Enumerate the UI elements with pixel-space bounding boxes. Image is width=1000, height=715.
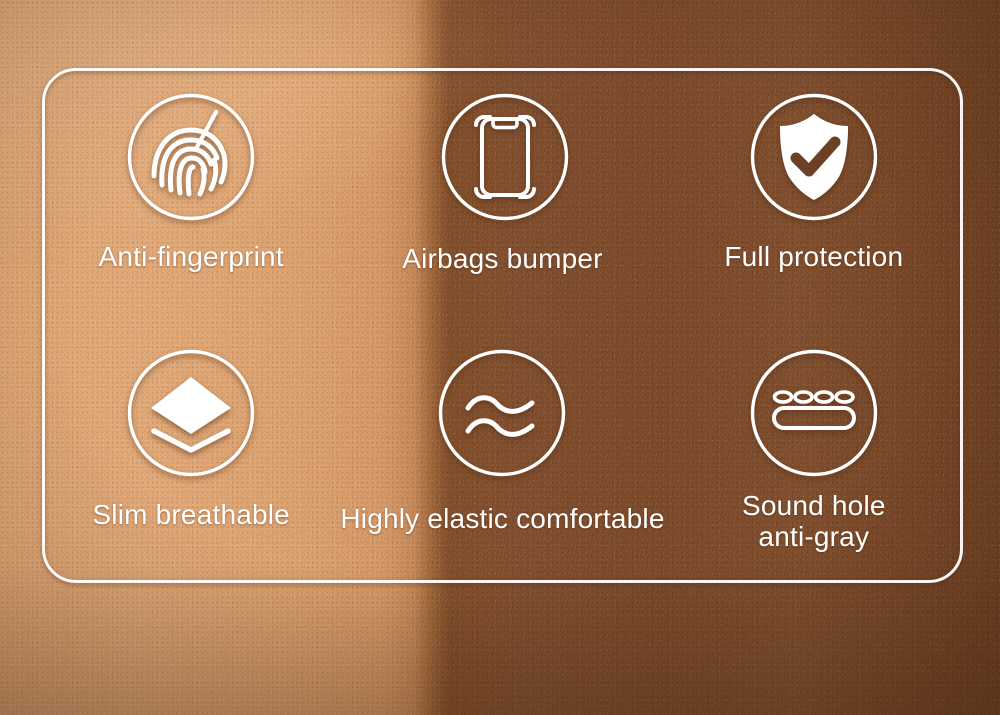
- feature-item-sound-hole-anti-gray: Sound hole anti-gray: [665, 326, 963, 584]
- feature-item-anti-fingerprint: Anti-fingerprint: [42, 68, 340, 326]
- feature-item-full-protection: Full protection: [665, 68, 963, 326]
- feature-label: Slim breathable: [92, 498, 290, 531]
- wavy-lines-icon: [435, 346, 569, 480]
- shield-check-icon: [747, 90, 881, 224]
- feature-item-highly-elastic-comfortable: Highly elastic comfortable: [340, 326, 664, 584]
- feature-label: Anti-fingerprint: [99, 240, 284, 273]
- feature-item-airbags-bumper: Airbags bumper: [340, 68, 664, 326]
- feature-label-line-2: anti-gray: [742, 521, 886, 552]
- speaker-grille-icon: [747, 346, 881, 480]
- feature-item-slim-breathable: Slim breathable: [42, 326, 340, 584]
- feature-grid: Anti-fingerprint Airbags bumper: [42, 68, 963, 583]
- feature-label: Full protection: [724, 240, 903, 273]
- feature-label-line-1: Sound hole: [742, 490, 886, 521]
- layers-icon: [124, 346, 258, 480]
- feature-label: Highly elastic comfortable: [340, 502, 664, 535]
- product-feature-infographic: Anti-fingerprint Airbags bumper: [0, 0, 1000, 715]
- feature-label: Airbags bumper: [402, 242, 602, 275]
- fingerprint-icon: [124, 90, 258, 224]
- phone-airbag-bumper-icon: [438, 90, 572, 224]
- feature-label: Sound hole anti-gray: [742, 490, 886, 553]
